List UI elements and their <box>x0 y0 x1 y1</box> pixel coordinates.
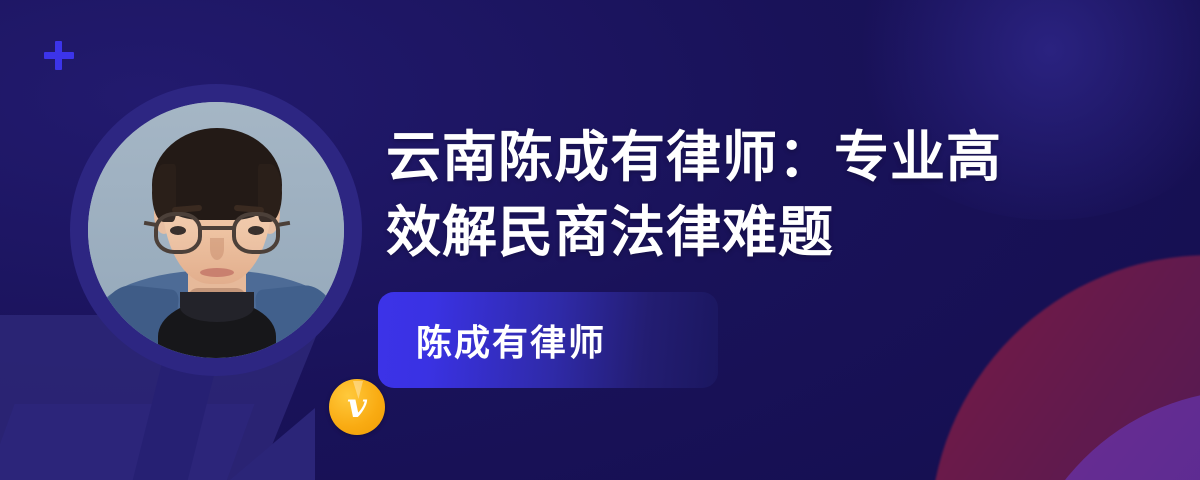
decorative-ribbon-triangle <box>185 408 315 480</box>
avatar[interactable]: v <box>70 84 362 376</box>
lawyer-profile-banner: v 云南陈成有律师：专业高 效解民商法律难题 陈成有律师 <box>0 0 1200 480</box>
banner-content: 云南陈成有律师：专业高 效解民商法律难题 陈成有律师 <box>386 0 1086 480</box>
portrait-nose <box>210 238 224 260</box>
plus-icon-bar-vertical <box>55 41 62 70</box>
avatar-photo <box>88 102 344 358</box>
portrait-mouth <box>200 268 234 277</box>
glasses-lens-left <box>154 212 202 254</box>
verified-badge-label: v <box>329 379 385 435</box>
glasses-bridge <box>200 226 236 230</box>
portrait-collar <box>180 292 254 322</box>
verified-badge-icon: v <box>329 379 385 435</box>
plus-icon <box>40 36 78 74</box>
lawyer-name-button[interactable]: 陈成有律师 <box>378 292 718 388</box>
page-title: 云南陈成有律师：专业高 效解民商法律难题 <box>386 120 1076 270</box>
decorative-ribbon-soft <box>0 404 255 480</box>
glasses-lens-right <box>232 212 280 254</box>
